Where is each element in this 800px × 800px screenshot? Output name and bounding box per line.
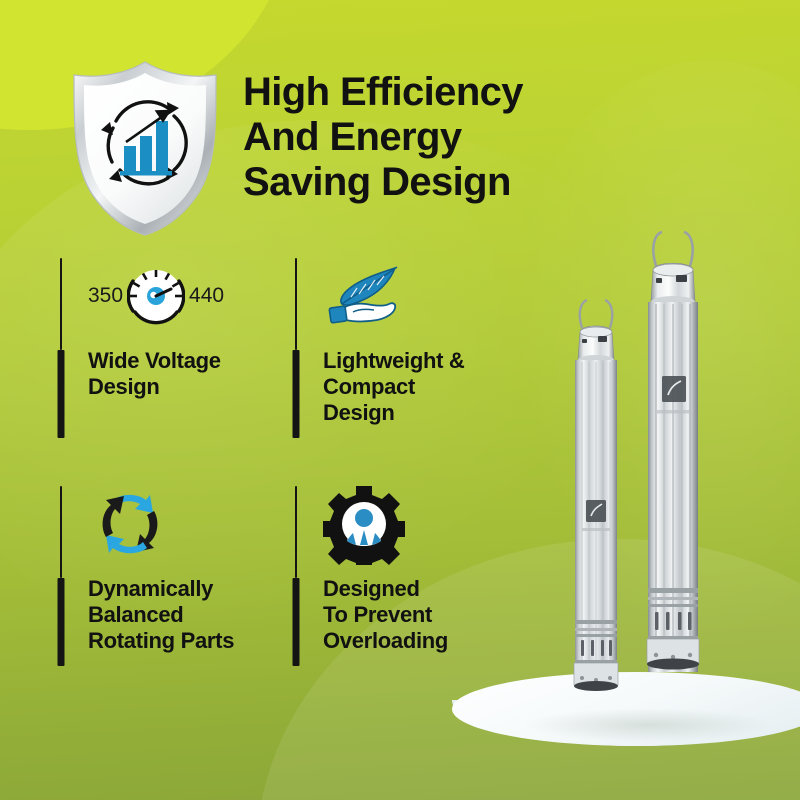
feature-title-line: Balanced	[88, 602, 285, 628]
feature-divider	[291, 486, 300, 668]
feature-divider	[291, 258, 300, 440]
feature-title-line: Dynamically	[88, 576, 285, 602]
feature-divider	[56, 258, 65, 440]
feature-title: Wide Voltage Design	[88, 348, 285, 400]
voltage-max-value: 440	[189, 284, 224, 308]
pump-short-illustration	[568, 282, 624, 722]
voltage-min-value: 350	[88, 284, 123, 308]
feature-title-line: Design	[323, 400, 520, 426]
headline-line-1: High Efficiency	[243, 70, 663, 115]
feature-row-top: 350	[50, 258, 520, 438]
feature-wide-voltage: 350	[50, 258, 285, 438]
feature-prevent-overloading: Designed To Prevent Overloading	[285, 486, 520, 666]
feature-icon-slot	[323, 486, 520, 562]
submersible-pump-short	[568, 282, 624, 722]
feature-title-line: Wide Voltage	[88, 348, 285, 374]
feature-title-line: Overloading	[323, 628, 520, 654]
feature-title: Lightweight & Compact Design	[323, 348, 520, 426]
submersible-pump-tall	[640, 216, 706, 716]
feature-title-line: Designed	[323, 576, 520, 602]
pump-tall-illustration	[640, 216, 706, 716]
feature-icon-slot: 350	[88, 258, 285, 334]
feather-on-hand-icon	[323, 263, 411, 329]
feature-title: Dynamically Balanced Rotating Parts	[88, 576, 285, 654]
feature-title-line: Lightweight &	[323, 348, 520, 374]
feature-title-line: Design	[88, 374, 285, 400]
feature-icon-slot	[88, 486, 285, 562]
feature-title: Designed To Prevent Overloading	[323, 576, 520, 654]
promo-poster: High Efficiency And Energy Saving Design…	[0, 0, 800, 800]
feature-lightweight-compact: Lightweight & Compact Design	[285, 258, 520, 438]
headline-line-2: And Energy	[243, 115, 663, 160]
feature-title-line: To Prevent	[323, 602, 520, 628]
headline-line-3: Saving Design	[243, 160, 663, 205]
feature-row-bottom: Dynamically Balanced Rotating Parts	[50, 486, 520, 666]
feature-divider	[56, 486, 65, 668]
feature-title-line: Rotating Parts	[88, 628, 285, 654]
efficiency-shield-badge	[64, 58, 226, 238]
product-pedestal	[452, 672, 800, 772]
feature-grid: 350	[50, 258, 520, 666]
shield-with-growth-chart-icon	[64, 58, 226, 238]
page-title: High Efficiency And Energy Saving Design	[243, 70, 663, 204]
gear-with-impeller-icon	[323, 483, 405, 565]
voltage-gauge-icon	[127, 267, 185, 325]
rotating-arrows-icon	[88, 482, 172, 566]
feature-dynamically-balanced: Dynamically Balanced Rotating Parts	[50, 486, 285, 666]
feature-title-line: Compact	[323, 374, 520, 400]
feature-icon-slot	[323, 258, 520, 334]
